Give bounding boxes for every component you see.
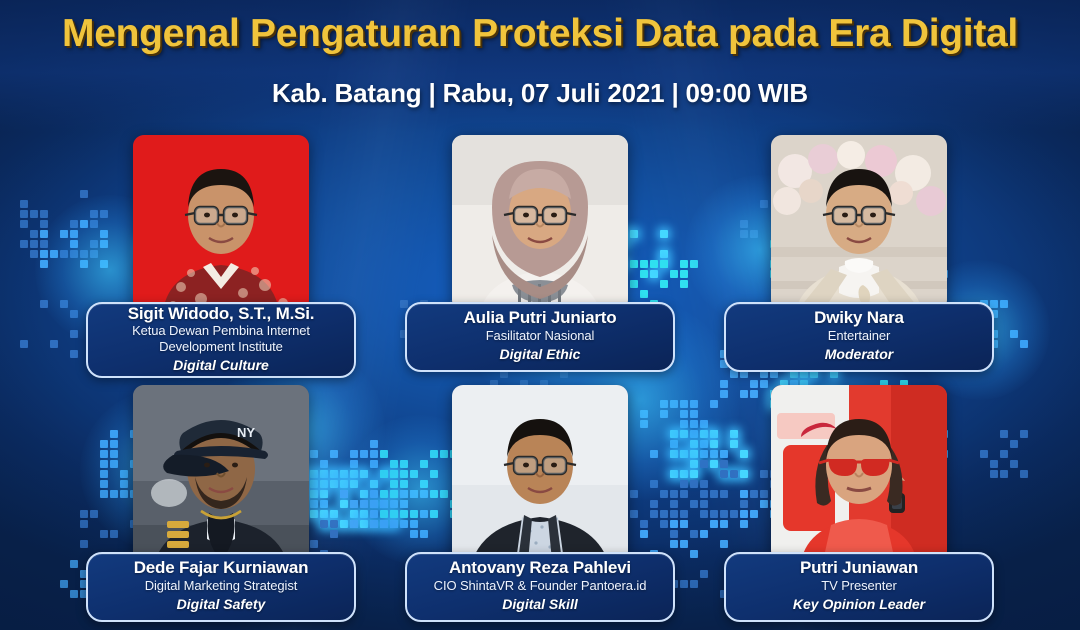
speaker-role-line1: TV Presenter xyxy=(821,578,896,594)
speaker-topic: Digital Skill xyxy=(502,596,577,614)
speaker-role-line2: Development Institute xyxy=(159,339,283,355)
speakers-grid: Sigit Widodo, S.T., M.Si.Ketua Dewan Pem… xyxy=(0,132,1080,630)
photo-dwiky-nara xyxy=(771,135,947,311)
svg-text:NY: NY xyxy=(237,425,255,440)
speaker-name: Dede Fajar Kurniawan xyxy=(134,559,309,578)
speaker-topic: Digital Culture xyxy=(173,357,269,375)
photo-putri-juniawan xyxy=(771,385,947,561)
speaker-card-3[interactable]: Dede Fajar KurniawanDigital Marketing St… xyxy=(86,552,356,622)
speaker-name: Sigit Widodo, S.T., M.Si. xyxy=(128,305,315,324)
speaker-role-line1: Ketua Dewan Pembina Internet xyxy=(132,323,310,339)
speaker-card-1[interactable]: Aulia Putri JuniartoFasilitator Nasional… xyxy=(405,302,675,372)
speaker-topic: Digital Safety xyxy=(177,596,266,614)
event-poster: Mengenal Pengaturan Proteksi Data pada E… xyxy=(0,0,1080,630)
speaker-card-5[interactable]: Putri JuniawanTV PresenterKey Opinion Le… xyxy=(724,552,994,622)
speaker-role-line1: CIO ShintaVR & Founder Pantoera.id xyxy=(434,578,647,594)
poster-subtitle: Kab. Batang | Rabu, 07 Juli 2021 | 09:00… xyxy=(0,78,1080,109)
speaker-role-line1: Digital Marketing Strategist xyxy=(145,578,298,594)
poster-header: Mengenal Pengaturan Proteksi Data pada E… xyxy=(0,0,1080,109)
speaker-role-line1: Fasilitator Nasional xyxy=(486,328,595,344)
photo-dede-fajar-kurniawan: NY xyxy=(133,385,309,561)
speaker-card-0[interactable]: Sigit Widodo, S.T., M.Si.Ketua Dewan Pem… xyxy=(86,302,356,378)
speaker-card-2[interactable]: Dwiky NaraEntertainerModerator xyxy=(724,302,994,372)
photo-aulia-putri-juniarto xyxy=(452,135,628,311)
speaker-role-line1: Entertainer xyxy=(828,328,891,344)
speaker-card-4[interactable]: Antovany Reza PahleviCIO ShintaVR & Foun… xyxy=(405,552,675,622)
photo-sigit-widodo xyxy=(133,135,309,311)
speaker-topic: Digital Ethic xyxy=(500,346,581,364)
speaker-topic: Moderator xyxy=(825,346,893,364)
speaker-name: Dwiky Nara xyxy=(814,309,904,328)
photo-antovany-reza-pahlevi xyxy=(452,385,628,561)
speaker-name: Putri Juniawan xyxy=(800,559,918,578)
speaker-name: Antovany Reza Pahlevi xyxy=(449,559,631,578)
speaker-topic: Key Opinion Leader xyxy=(793,596,925,614)
speaker-name: Aulia Putri Juniarto xyxy=(464,309,617,328)
poster-title: Mengenal Pengaturan Proteksi Data pada E… xyxy=(0,12,1080,56)
